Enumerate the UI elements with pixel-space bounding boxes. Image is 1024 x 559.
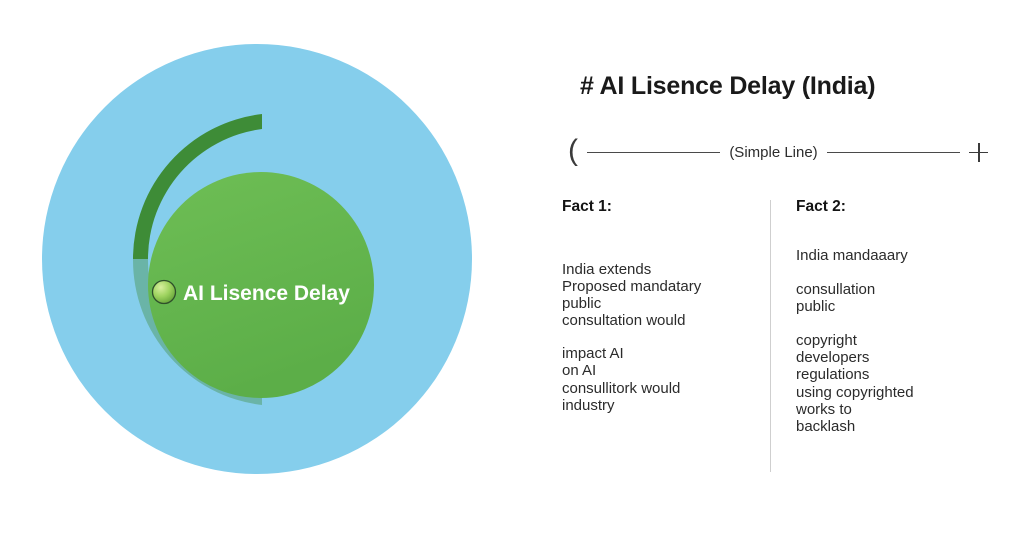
fact-column-1: Fact 1: India extends Proposed mandatary… [562, 198, 770, 483]
fact-2-block-3: copyright developers regulations using c… [796, 332, 992, 435]
fact-1-block-2: impact AI on AI consullitork would indus… [562, 345, 752, 413]
divider-rule-right [827, 152, 960, 153]
fact-column-2: Fact 2: India mandaaary consullation pub… [770, 198, 992, 483]
diagram-svg: AI Lisence Delay [0, 0, 520, 559]
fact-2-heading: Fact 2: [796, 198, 992, 216]
facts-section: Fact 1: India extends Proposed mandatary… [562, 198, 992, 483]
fact-1-heading: Fact 1: [562, 198, 752, 216]
content-panel: # AI Lisence Delay (India) ( (Simple Lin… [520, 0, 1024, 559]
open-paren-glyph: ( [568, 136, 578, 166]
page-title: # AI Lisence Delay (India) [580, 72, 875, 101]
simple-line-label: (Simple Line) [729, 144, 817, 161]
fact-1-block-1: India extends Proposed mandatary public … [562, 261, 752, 329]
fact-2-block-2: consullation public [796, 281, 992, 315]
plus-icon[interactable] [969, 143, 988, 162]
fact-2-block-1: India mandaaary [796, 247, 992, 264]
simple-line-divider: ( (Simple Line) [568, 132, 988, 172]
diagram-node-label: AI Lisence Delay [183, 282, 350, 305]
circle-diagram-panel: AI Lisence Delay [0, 0, 520, 559]
green-sphere-bullet-icon [153, 281, 176, 304]
divider-rule-left [587, 152, 720, 153]
